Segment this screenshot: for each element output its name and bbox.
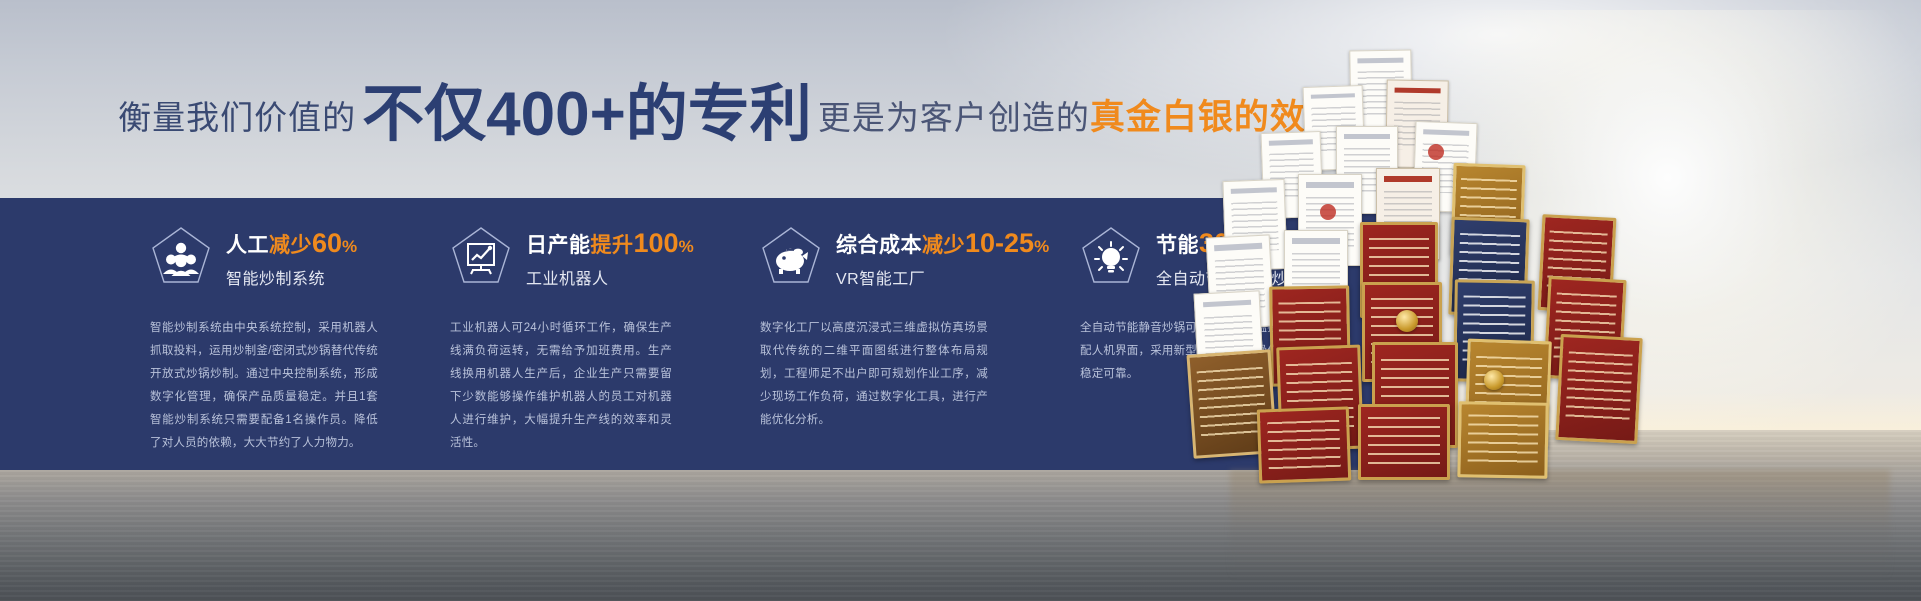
feature-header: 综合成本减少10-25% VR智能工厂 xyxy=(760,220,1040,298)
official-seal-icon xyxy=(1320,204,1336,220)
feature-subtitle: VR智能工厂 xyxy=(836,265,1049,289)
feature-title: 综合成本减少10-25% xyxy=(836,229,1049,257)
feature-item-output-increase[interactable]: 日产能提升100% 工业机器人 工业机器人可24小时循环工作，确保生产线满负荷运… xyxy=(450,198,760,470)
award-plaque xyxy=(1457,401,1548,479)
feature-item-cost-reduction[interactable]: 综合成本减少10-25% VR智能工厂 数字化工厂以高度沉浸式三维虚拟仿真场景取… xyxy=(760,198,1080,470)
feature-description: 数字化工厂以高度沉浸式三维虚拟仿真场景取代传统的二维平面图纸进行整体布局规划，工… xyxy=(760,317,988,432)
headline-lead: 衡量我们价值的 xyxy=(118,91,356,139)
feature-item-labor-reduction[interactable]: 人工减少60% 智能炒制系统 智能炒制系统由中央系统控制，采用机器人抓取投料，运… xyxy=(150,198,450,470)
feature-title-number: 10-25 xyxy=(965,228,1034,258)
feature-title: 人工减少60% xyxy=(226,229,357,257)
award-plaque xyxy=(1358,404,1450,480)
feature-description: 智能炒制系统由中央系统控制，采用机器人抓取投料，运用炒制釜/密闭式炒锅替代传统开… xyxy=(150,317,378,455)
feature-header: 日产能提升100% 工业机器人 xyxy=(450,220,720,298)
medal-icon xyxy=(1484,370,1504,390)
feature-title-primary: 日产能 xyxy=(526,234,591,257)
feature-title-number: 60 xyxy=(312,228,342,258)
lightbulb-icon xyxy=(1080,226,1142,292)
people-group-icon xyxy=(150,226,212,292)
chart-board-icon xyxy=(450,226,512,292)
feature-description: 工业机器人可24小时循环工作，确保生产线满负荷运转，无需给予加班费用。生产线换用… xyxy=(450,317,672,455)
feature-titles: 人工减少60% 智能炒制系统 xyxy=(226,229,357,288)
feature-title-percent: % xyxy=(342,237,357,256)
feature-titles: 综合成本减少10-25% VR智能工厂 xyxy=(836,229,1049,288)
feature-title: 日产能提升100% xyxy=(526,229,694,257)
feature-titles: 日产能提升100% 工业机器人 xyxy=(526,229,694,288)
feature-title-primary: 节能 xyxy=(1156,234,1199,257)
certificate-and-award-wall xyxy=(1200,40,1921,520)
feature-title-accent: 减少 xyxy=(922,234,965,257)
headline-middle: 更是为客户创造的 xyxy=(818,91,1090,139)
feature-header: 人工减少60% 智能炒制系统 xyxy=(150,220,410,298)
feature-title-number: 100 xyxy=(634,228,679,258)
medal-icon xyxy=(1396,310,1418,332)
award-plaque xyxy=(1555,334,1642,444)
feature-subtitle: 智能炒制系统 xyxy=(226,265,357,289)
feature-title-accent: 提升 xyxy=(591,234,634,257)
official-seal-icon xyxy=(1428,144,1444,160)
feature-title-accent: 减少 xyxy=(269,234,312,257)
feature-title-percent: % xyxy=(679,237,694,256)
headline-emphasis: 不仅400+的专利 xyxy=(356,84,818,146)
award-plaque xyxy=(1257,406,1352,483)
feature-title-primary: 人工 xyxy=(226,234,269,257)
feature-subtitle: 工业机器人 xyxy=(526,265,694,289)
feature-title-primary: 综合成本 xyxy=(836,234,922,257)
feature-title-percent: % xyxy=(1034,237,1049,256)
piggy-bank-icon xyxy=(760,226,822,292)
